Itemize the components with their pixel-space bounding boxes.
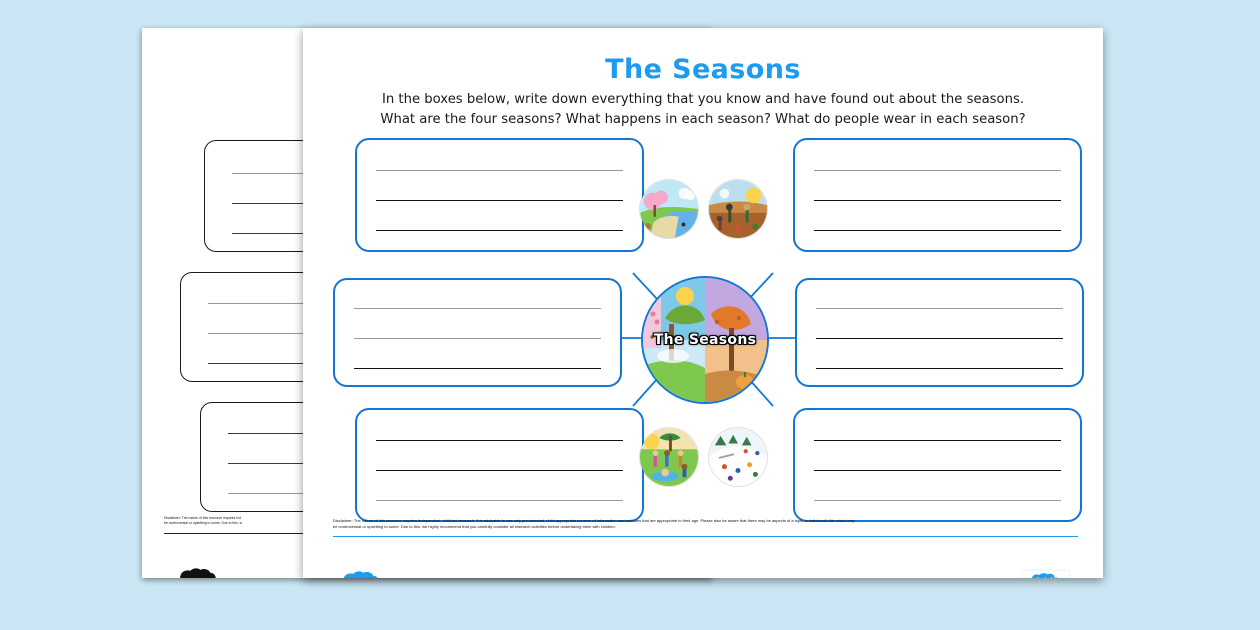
box-middle-right[interactable] [795, 278, 1084, 387]
disclaimer-line2: be controversial or upsetting to some. D… [333, 524, 1078, 530]
box-bottom-right[interactable] [793, 408, 1082, 522]
disclaimer: Disclaimer: The nature of this resource … [333, 518, 1078, 529]
writing-line [814, 200, 1062, 201]
background-twinkl-logo[interactable]: twinkl [172, 568, 230, 578]
writing-line [816, 368, 1064, 369]
svg-text:twinkl: twinkl [185, 577, 218, 578]
writing-line [354, 368, 602, 369]
writing-line [376, 470, 624, 471]
footer-divider [333, 536, 1078, 537]
season-thumbnail-winter [709, 428, 767, 486]
center-seasons-graphic: The Seasons [641, 276, 769, 404]
main-worksheet-sheet[interactable]: The Seasons In the boxes below, write do… [303, 28, 1103, 578]
writing-line [376, 200, 624, 201]
writing-line [814, 230, 1062, 231]
season-thumbnail-spring [640, 180, 698, 238]
writing-line [354, 338, 602, 339]
writing-line [376, 440, 624, 441]
season-thumbnail-summer [640, 428, 698, 486]
writing-line [376, 500, 624, 501]
box-top-left[interactable] [355, 138, 644, 252]
writing-line [376, 170, 624, 171]
writing-line [376, 230, 624, 231]
writing-line [354, 308, 602, 309]
writing-line [814, 440, 1062, 441]
worksheet-stage: In the boxes b What are th Disclaimer: T… [0, 0, 1260, 630]
writing-line [816, 338, 1064, 339]
writing-line [814, 500, 1062, 501]
twinkl-logo[interactable]: twinkl [335, 571, 393, 578]
writing-line [814, 470, 1062, 471]
box-bottom-left[interactable] [355, 408, 644, 522]
writing-line [814, 170, 1062, 171]
twinkl-quality-badge: twinkl Quality Checked Approved [1021, 569, 1071, 578]
box-top-right[interactable] [793, 138, 1082, 252]
season-thumbnail-autumn [709, 180, 767, 238]
box-middle-left[interactable] [333, 278, 622, 387]
svg-text:twinkl: twinkl [1036, 577, 1055, 578]
center-label: The Seasons [643, 332, 767, 348]
writing-line [816, 308, 1064, 309]
